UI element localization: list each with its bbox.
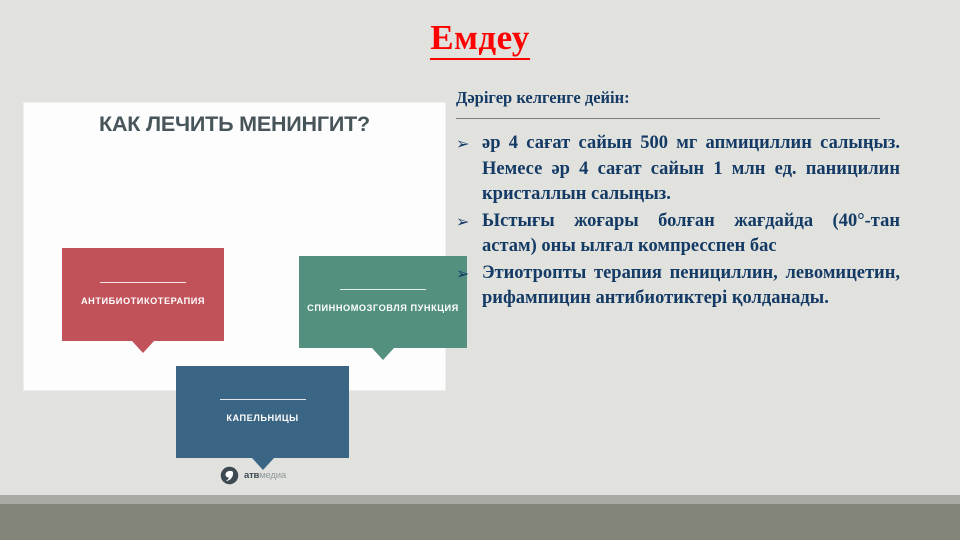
bullet-list: ➢ әр 4 сағат сайын 500 мг апмициллин сал… [456, 131, 900, 312]
infographic-image: КАК ЛЕЧИТЬ МЕНИНГИТ? АНТИБИОТИКОТЕРАПИЯ … [24, 103, 445, 390]
card-label: СПИННОМОЗГОВЛЯ ПУНКЦИЯ [307, 303, 459, 315]
logo-wordmark-light: медиа [259, 470, 286, 481]
card-arrow-down-icon [132, 341, 154, 353]
list-item-text: Этиотропты терапия пенициллин, левомицет… [482, 263, 900, 309]
logo-wordmark-bold: атв [244, 470, 259, 481]
logo-wordmark: атвмедиа [244, 470, 286, 481]
infographic-card-puncture: СПИННОМОЗГОВЛЯ ПУНКЦИЯ [299, 256, 467, 348]
page-title-text: Емдеу [430, 18, 530, 60]
footer-accent-strip [0, 495, 960, 504]
list-item-text: әр 4 сағат сайын 500 мг апмициллин салың… [482, 133, 900, 204]
footer-band [0, 504, 960, 540]
card-label: КАПЕЛЬНИЦЫ [226, 413, 298, 425]
list-item-text: Ыстығы жоғары болған жағдайда (40°-тан а… [482, 211, 900, 257]
card-divider [100, 282, 186, 283]
card-divider [340, 289, 426, 290]
list-item: ➢ әр 4 сағат сайын 500 мг апмициллин сал… [456, 131, 900, 208]
spiral-comma-icon [220, 466, 239, 485]
atv-media-logo: атвмедиа [220, 464, 312, 486]
arrow-bullet-icon: ➢ [456, 209, 469, 235]
content-column: Дәрігер келгенге дейін: ➢ әр 4 сағат сай… [456, 88, 900, 313]
card-arrow-down-icon [372, 348, 394, 360]
heading-divider [456, 118, 880, 119]
infographic-title: КАК ЛЕЧИТЬ МЕНИНГИТ? [24, 112, 445, 137]
card-label: АНТИБИОТИКОТЕРАПИЯ [81, 296, 205, 308]
infographic-card-drip: КАПЕЛЬНИЦЫ [176, 366, 349, 458]
page-title: Емдеу [0, 18, 960, 58]
arrow-bullet-icon: ➢ [456, 261, 469, 287]
content-heading: Дәрігер келгенге дейін: [456, 88, 900, 108]
infographic-card-antibiotic: АНТИБИОТИКОТЕРАПИЯ [62, 248, 224, 341]
card-divider [220, 399, 306, 400]
list-item: ➢ Ыстығы жоғары болған жағдайда (40°-тан… [456, 209, 900, 260]
arrow-bullet-icon: ➢ [456, 131, 469, 157]
list-item: ➢ Этиотропты терапия пенициллин, левомиц… [456, 261, 900, 312]
